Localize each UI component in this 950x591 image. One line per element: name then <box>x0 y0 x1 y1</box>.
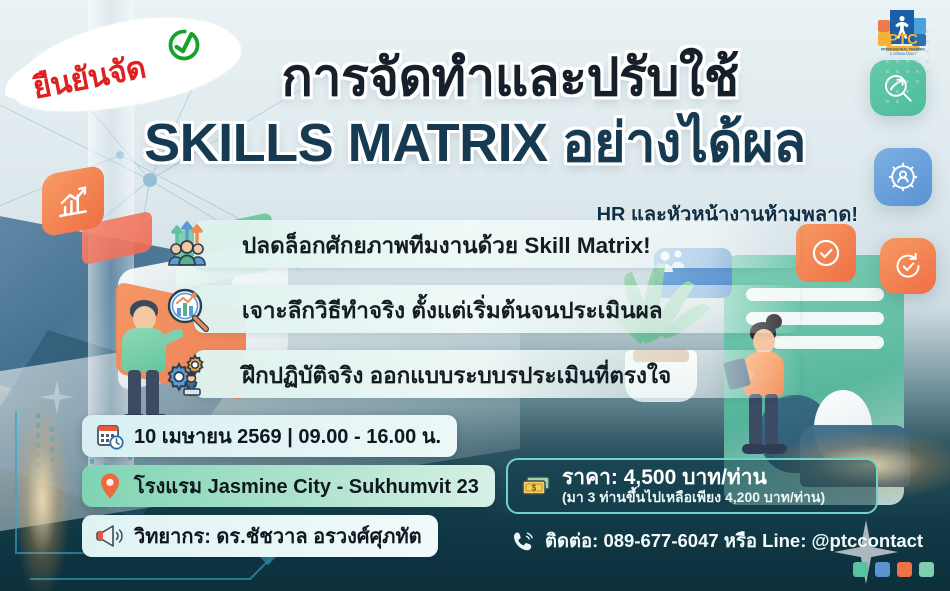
price-box: $ ราคา: 4,500 บาท/ท่าน (มา 3 ท่านขึ้นไปเ… <box>506 458 878 514</box>
megaphone-icon <box>94 523 126 549</box>
money-icon: $ <box>520 474 554 498</box>
event-date-pill: 10 เมษายน 2569 | 09.00 - 16.00 น. <box>82 415 457 457</box>
svg-text:$: $ <box>532 483 537 492</box>
event-speaker-text: วิทยากร: ดร.ชัชวาล อรวงศ์ศุภทัต <box>134 520 422 552</box>
contact-text: ติดต่อ: 089-677-6047 หรือ Line: @ptccont… <box>545 527 923 556</box>
corner-square-2 <box>875 562 890 577</box>
svg-text:PROFESSIONAL TRAINING: PROFESSIONAL TRAINING <box>881 47 925 51</box>
price-text-group: ราคา: 4,500 บาท/ท่าน (มา 3 ท่านขึ้นไปเหล… <box>562 466 825 507</box>
growth-chart-card <box>42 165 104 238</box>
poster-canvas: PTC PROFESSIONAL TRAINING & CONSULTANCY … <box>0 0 950 591</box>
gears-person-icon <box>160 348 216 402</box>
clock-refresh-icon <box>891 249 925 283</box>
event-venue-text: โรงแรม Jasmine City - Sukhumvit 23 <box>134 470 479 502</box>
location-pin-icon <box>94 472 126 500</box>
clock-check-icon <box>809 236 843 270</box>
ptc-logo-icon: PTC PROFESSIONAL TRAINING & CONSULTANCY <box>872 4 934 56</box>
ptc-logo: PTC PROFESSIONAL TRAINING & CONSULTANCY <box>872 4 934 56</box>
event-date-text: 10 เมษายน 2569 | 09.00 - 16.00 น. <box>134 420 441 452</box>
page-title-line1: การจัดทำและปรับใช้ <box>0 52 950 105</box>
decor-card-orange-clock <box>796 224 856 282</box>
list-item: ฝึกปฏิบัติจริง ออกแบบระบบรประเมินที่ตรงใ… <box>160 348 800 402</box>
corner-square-3 <box>897 562 912 577</box>
list-item: ปลดล็อกศักยภาพทีมงานด้วย Skill Matrix! <box>160 218 800 272</box>
bullet-text: เจาะลึกวิธีทำจริง ตั้งแต่เริ่มต้นจนประเม… <box>242 283 663 337</box>
bullet-list: ปลดล็อกศักยภาพทีมงานด้วย Skill Matrix! เ… <box>160 218 800 413</box>
bullet-text: ฝึกปฏิบัติจริง ออกแบบระบบรประเมินที่ตรงใ… <box>242 348 671 402</box>
svg-text:PTC: PTC <box>888 31 918 48</box>
bullet-text: ปลดล็อกศักยภาพทีมงานด้วย Skill Matrix! <box>242 218 651 272</box>
magnifier-bar-chart-icon <box>160 283 216 337</box>
floating-card-clock <box>880 238 936 294</box>
bar-chart-up-icon <box>54 179 92 224</box>
people-growth-chart-icon <box>160 218 216 272</box>
page-title-line2: SKILLS MATRIX อย่างได้ผล <box>0 116 950 171</box>
price-sub-text: (มา 3 ท่านขึ้นไปเหลือเพียง 4,200 บาท/ท่า… <box>562 489 825 507</box>
event-venue-pill: โรงแรม Jasmine City - Sukhumvit 23 <box>82 465 495 507</box>
list-item: เจาะลึกวิธีทำจริง ตั้งแต่เริ่มต้นจนประเม… <box>160 283 800 337</box>
calendar-clock-icon <box>94 422 126 450</box>
event-speaker-pill: วิทยากร: ดร.ชัชวาล อรวงศ์ศุภทัต <box>82 515 438 557</box>
corner-square-1 <box>853 562 868 577</box>
corner-square-4 <box>919 562 934 577</box>
contact-line[interactable]: ติดต่อ: 089-677-6047 หรือ Line: @ptccont… <box>508 527 923 556</box>
phone-icon <box>508 530 538 554</box>
price-main-text: ราคา: 4,500 บาท/ท่าน <box>562 466 825 489</box>
